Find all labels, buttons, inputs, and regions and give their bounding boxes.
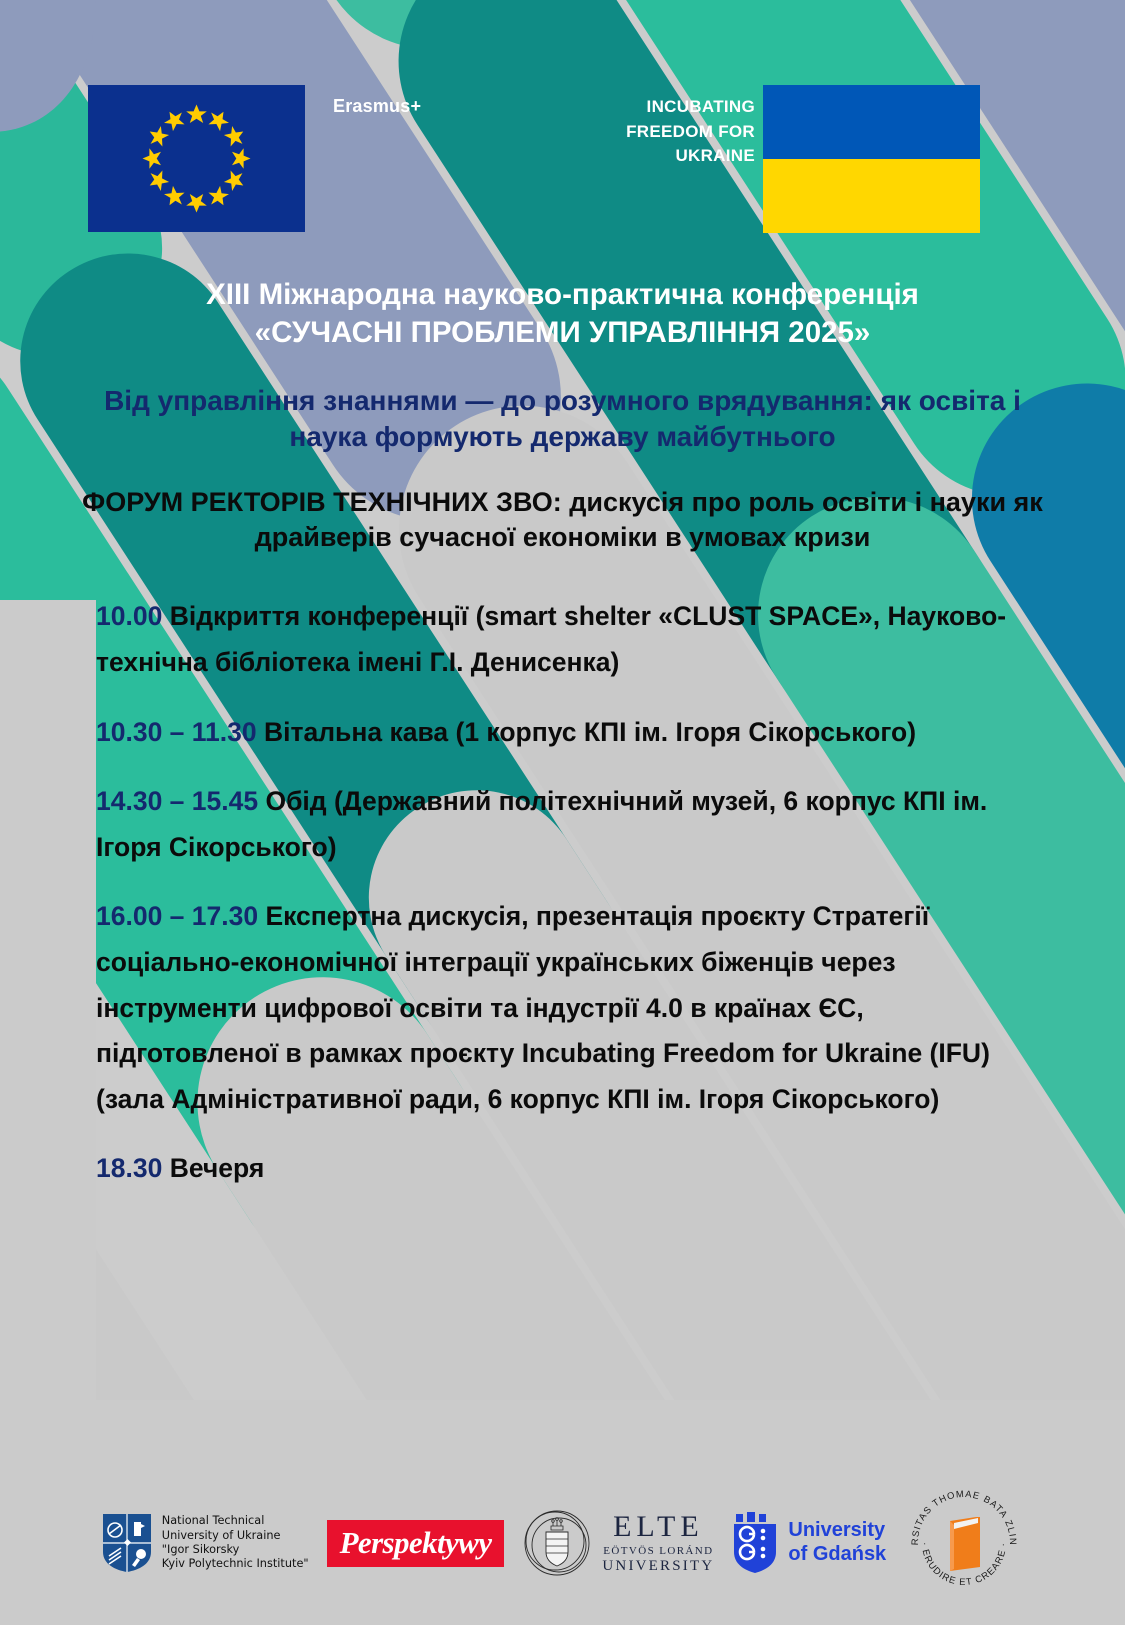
schedule-item-time: 10.30 – 11.30 — [96, 717, 257, 747]
schedule-item-time: 10.00 — [96, 601, 162, 631]
perspektywy-logo-text: Perspektywy — [340, 1527, 492, 1558]
poster-header: Erasmus+ INCUBATING FREEDOM FOR UKRAINE — [0, 0, 1125, 250]
schedule-item: 16.00 – 17.30 Експертна дискусія, презен… — [96, 894, 1027, 1122]
perspektywy-logo: Perspektywy — [327, 1520, 505, 1567]
schedule-item-description: Вітальна кава (1 корпус КПІ ім. Ігоря Сі… — [257, 717, 916, 747]
schedule-item: 18.30 Вечеря — [96, 1146, 1027, 1192]
conference-title-line-1: XIII Міжнародна науково-практична конфер… — [62, 276, 1063, 314]
elte-wordmark: ELTE — [602, 1511, 714, 1543]
european-union-flag — [88, 85, 305, 232]
gdansk-shield-icon — [732, 1512, 778, 1574]
tbu-book-icon — [950, 1517, 980, 1571]
kpi-logo: National Technical University of Ukraine… — [101, 1512, 309, 1574]
elte-subtitle-2: UNIVERSITY — [602, 1558, 714, 1575]
gdansk-logo-text: University of Gdańsk — [788, 1519, 886, 1566]
elte-logo-text: ELTE EÖTVÖS LORÁND UNIVERSITY — [602, 1511, 714, 1575]
eu-stars-icon — [88, 85, 305, 232]
elte-crest-icon — [522, 1508, 592, 1578]
schedule-item-description: Експертна дискусія, презентація проєкту … — [96, 901, 990, 1113]
ukraine-flag-blue-band — [763, 85, 980, 159]
schedule-item: 10.00 Відкриття конференції (smart shelt… — [96, 594, 1027, 685]
schedule-list: 10.00 Відкриття конференції (smart shelt… — [0, 594, 1125, 1191]
conference-subtitle: Від управління знаннями — до розумного в… — [62, 383, 1063, 456]
elte-subtitle-1: EÖTVÖS LORÁND — [602, 1545, 714, 1557]
schedule-item-time: 16.00 – 17.30 — [96, 901, 258, 931]
tbu-circular-seal-icon: UNIVERSITAS THOMAE BATA ZLINENSIS · ERUD… — [904, 1483, 1024, 1603]
schedule-item-time: 18.30 — [96, 1153, 162, 1183]
forum-headline: ФОРУМ РЕКТОРІВ ТЕХНІЧНИХ ЗВО: дискусія п… — [0, 485, 1125, 555]
title-block: XIII Міжнародна науково-практична конфер… — [0, 276, 1125, 455]
erasmus-plus-label: Erasmus+ — [333, 96, 421, 117]
poster-content: XIII Міжнародна науково-практична конфер… — [0, 276, 1125, 1192]
conference-poster: Erasmus+ INCUBATING FREEDOM FOR UKRAINE … — [0, 0, 1125, 1625]
elte-logo: ELTE EÖTVÖS LORÁND UNIVERSITY — [522, 1508, 714, 1578]
conference-title: XIII Міжнародна науково-практична конфер… — [62, 276, 1063, 352]
ukraine-flag-yellow-band — [763, 159, 980, 233]
schedule-item: 14.30 – 15.45 Обід (Державний політехніч… — [96, 779, 1027, 870]
ifu-project-label: INCUBATING FREEDOM FOR UKRAINE — [560, 95, 755, 169]
kpi-shield-icon — [101, 1512, 153, 1574]
partner-logos-row: National Technical University of Ukraine… — [0, 1483, 1125, 1603]
conference-title-line-2: «СУЧАСНІ ПРОБЛЕМИ УПРАВЛІННЯ 2025» — [62, 314, 1063, 352]
ukraine-flag — [763, 85, 980, 233]
schedule-item-description: Вечеря — [162, 1153, 264, 1183]
schedule-item-time: 14.30 – 15.45 — [96, 786, 258, 816]
kpi-logo-text: National Technical University of Ukraine… — [162, 1514, 309, 1572]
university-of-gdansk-logo: University of Gdańsk — [732, 1512, 886, 1574]
tomas-bata-university-zlin-logo: UNIVERSITAS THOMAE BATA ZLINENSIS · ERUD… — [904, 1483, 1024, 1603]
schedule-item: 10.30 – 11.30 Вітальна кава (1 корпус КП… — [96, 710, 1027, 756]
schedule-item-description: Відкриття конференції (smart shelter «CL… — [96, 601, 1006, 677]
